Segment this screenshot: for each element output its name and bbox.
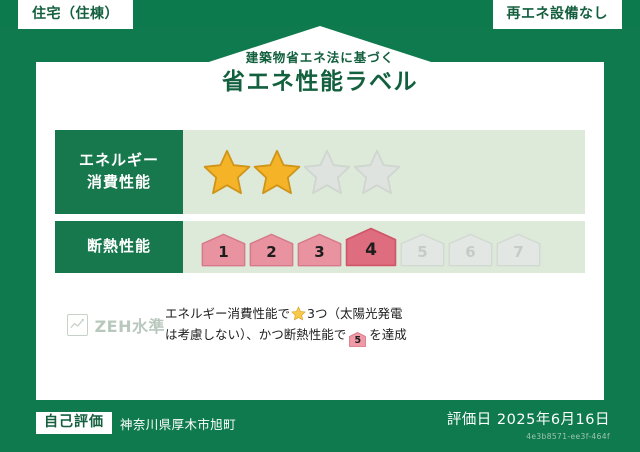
mini-house-icon: 5 <box>349 332 366 347</box>
insulation-performance-body: 1234567 <box>183 221 585 273</box>
footer-left: 自己評価 神奈川県厚木市旭町 <box>36 412 236 434</box>
document-id: 4e3b8571-ee3f-464f <box>447 432 610 441</box>
star-empty-icon <box>303 148 351 196</box>
insulation-grade-label: 5 <box>417 243 427 267</box>
property-address: 神奈川県厚木市旭町 <box>120 414 236 433</box>
self-evaluation-badge: 自己評価 <box>36 412 112 434</box>
insulation-grade-6: 6 <box>448 233 493 267</box>
insulation-grade-label: 7 <box>513 243 523 267</box>
zeh-checkbox-icon <box>67 314 88 336</box>
mini-star-icon <box>291 306 306 321</box>
label-card: 建築物省エネ法に基づく 省エネ性能ラベル エネルギー 消費性能 断熱性能 <box>36 62 604 400</box>
zeh-text-part2: 3つ（太陽光発電 <box>307 306 402 321</box>
evaluation-date-value: 2025年6月16日 <box>497 412 610 428</box>
renewable-equipment-tag: 再エネ設備なし <box>493 0 623 29</box>
performance-rows: エネルギー 消費性能 断熱性能 1234567 <box>55 130 585 280</box>
insulation-grade-1: 1 <box>201 233 246 267</box>
insulation-grade-scale: 1234567 <box>201 227 541 267</box>
zeh-standard-note: ZEH水準 エネルギー消費性能で3つ（太陽光発電 は考慮しない）、かつ断熱性能で… <box>55 304 585 347</box>
zeh-text-part4: を達成 <box>369 327 407 342</box>
title-block: 建築物省エネ法に基づく 省エネ性能ラベル <box>36 52 604 95</box>
insulation-grade-5: 5 <box>400 233 445 267</box>
insulation-grade-label: 1 <box>218 243 228 267</box>
zeh-badge-label: ZEH水準 <box>95 313 165 337</box>
insulation-grade-3: 3 <box>297 233 342 267</box>
insulation-grade-7: 7 <box>496 233 541 267</box>
star-empty-icon <box>353 148 401 196</box>
star-filled-icon <box>203 148 251 196</box>
zeh-badge: ZEH水準 <box>55 313 165 337</box>
zeh-text-part3: は考慮しない）、かつ断熱性能で <box>165 327 346 342</box>
energy-label-root: 住宅（住棟） 再エネ設備なし 建築物省エネ法に基づく 省エネ性能ラベル エネルギ… <box>0 0 640 452</box>
insulation-grade-4: 4 <box>345 227 397 267</box>
mini-house-grade: 5 <box>349 332 366 349</box>
insulation-performance-row: 断熱性能 1234567 <box>55 221 585 273</box>
evaluation-date-label: 評価日 <box>447 412 492 428</box>
zeh-description: エネルギー消費性能で3つ（太陽光発電 は考慮しない）、かつ断熱性能で5を達成 <box>165 304 585 347</box>
label-footer: 自己評価 神奈川県厚木市旭町 評価日 2025年6月16日 4e3b8571-e… <box>0 400 640 452</box>
page-title: 省エネ性能ラベル <box>36 69 604 95</box>
insulation-grade-label: 3 <box>314 243 324 267</box>
energy-performance-row: エネルギー 消費性能 <box>55 130 585 214</box>
title-subtitle: 建築物省エネ法に基づく <box>36 52 604 65</box>
building-type-tag: 住宅（住棟） <box>18 0 133 29</box>
evaluation-date: 評価日 2025年6月16日 <box>447 408 610 429</box>
insulation-label-line1: 断熱性能 <box>87 236 151 258</box>
star-filled-icon <box>253 148 301 196</box>
footer-right: 評価日 2025年6月16日 4e3b8571-ee3f-464f <box>447 408 610 441</box>
insulation-performance-label: 断熱性能 <box>55 221 183 273</box>
star-rating <box>203 148 401 196</box>
energy-performance-label: エネルギー 消費性能 <box>55 130 183 214</box>
insulation-grade-label: 2 <box>266 243 276 267</box>
zeh-text-part1: エネルギー消費性能で <box>165 306 290 321</box>
insulation-grade-2: 2 <box>249 233 294 267</box>
insulation-grade-label: 4 <box>365 240 377 267</box>
energy-performance-body <box>183 130 585 214</box>
energy-label-line2: 消費性能 <box>87 172 151 194</box>
energy-label-line1: エネルギー <box>79 150 159 172</box>
insulation-grade-label: 6 <box>465 243 475 267</box>
